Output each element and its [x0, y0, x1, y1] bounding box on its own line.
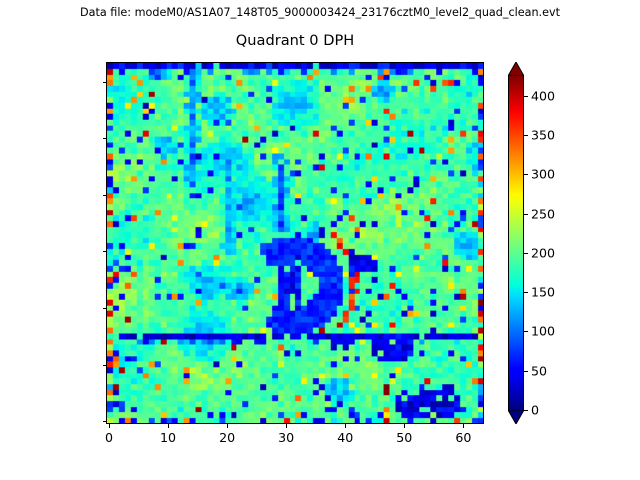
colorbar-tick-mark — [524, 371, 528, 372]
colorbar-tick-label: 100 — [531, 324, 555, 339]
axes-title: Quadrant 0 DPH — [106, 32, 484, 49]
colorbar-tick-mark — [524, 292, 528, 293]
colorbar-tick-label: 400 — [531, 88, 555, 103]
y-tick-mark — [103, 421, 107, 422]
colorbar-tick-mark — [524, 214, 528, 215]
y-tick-mark — [103, 365, 107, 366]
x-tick-mark — [227, 424, 228, 428]
colorbar-gradient-body — [508, 76, 524, 410]
colorbar-tick-label: 50 — [531, 363, 547, 378]
y-tick-mark — [103, 195, 107, 196]
heatmap-image — [107, 63, 483, 423]
colorbar-tick-label: 0 — [531, 403, 539, 418]
colorbar-tick-mark — [524, 253, 528, 254]
x-tick-label: 20 — [219, 430, 235, 445]
x-tick-label: 30 — [278, 430, 294, 445]
colorbar[interactable]: 050100150200250300350400 — [508, 62, 524, 424]
x-tick-label: 60 — [455, 430, 471, 445]
colorbar-extend-bottom-arrow — [508, 410, 524, 424]
colorbar-tick-label: 200 — [531, 245, 555, 260]
colorbar-tick-label: 250 — [531, 206, 555, 221]
x-tick-mark — [463, 424, 464, 428]
x-tick-label: 10 — [160, 430, 176, 445]
x-tick-mark — [109, 424, 110, 428]
y-tick-mark — [103, 308, 107, 309]
x-tick-mark — [345, 424, 346, 428]
colorbar-extend-top-arrow — [508, 62, 524, 76]
matplotlib-figure: Data file: modeM0/AS1A07_148T05_90000034… — [0, 0, 640, 480]
x-tick-label: 40 — [337, 430, 353, 445]
x-tick-mark — [404, 424, 405, 428]
x-tick-label: 50 — [396, 430, 412, 445]
colorbar-tick-label: 300 — [531, 167, 555, 182]
colorbar-tick-label: 350 — [531, 127, 555, 142]
x-tick-mark — [286, 424, 287, 428]
x-tick-label: 0 — [105, 430, 113, 445]
colorbar-tick-label: 150 — [531, 285, 555, 300]
y-tick-mark — [103, 82, 107, 83]
colorbar-gradient — [509, 76, 523, 410]
y-tick-mark — [103, 251, 107, 252]
colorbar-tick-mark — [524, 96, 528, 97]
colorbar-tick-mark — [524, 410, 528, 411]
colorbar-tick-mark — [524, 174, 528, 175]
x-tick-mark — [168, 424, 169, 428]
figure-suptitle: Data file: modeM0/AS1A07_148T05_90000034… — [0, 6, 640, 19]
colorbar-tick-mark — [524, 331, 528, 332]
y-tick-mark — [103, 138, 107, 139]
heatmap-axes — [106, 62, 484, 424]
colorbar-tick-mark — [524, 135, 528, 136]
